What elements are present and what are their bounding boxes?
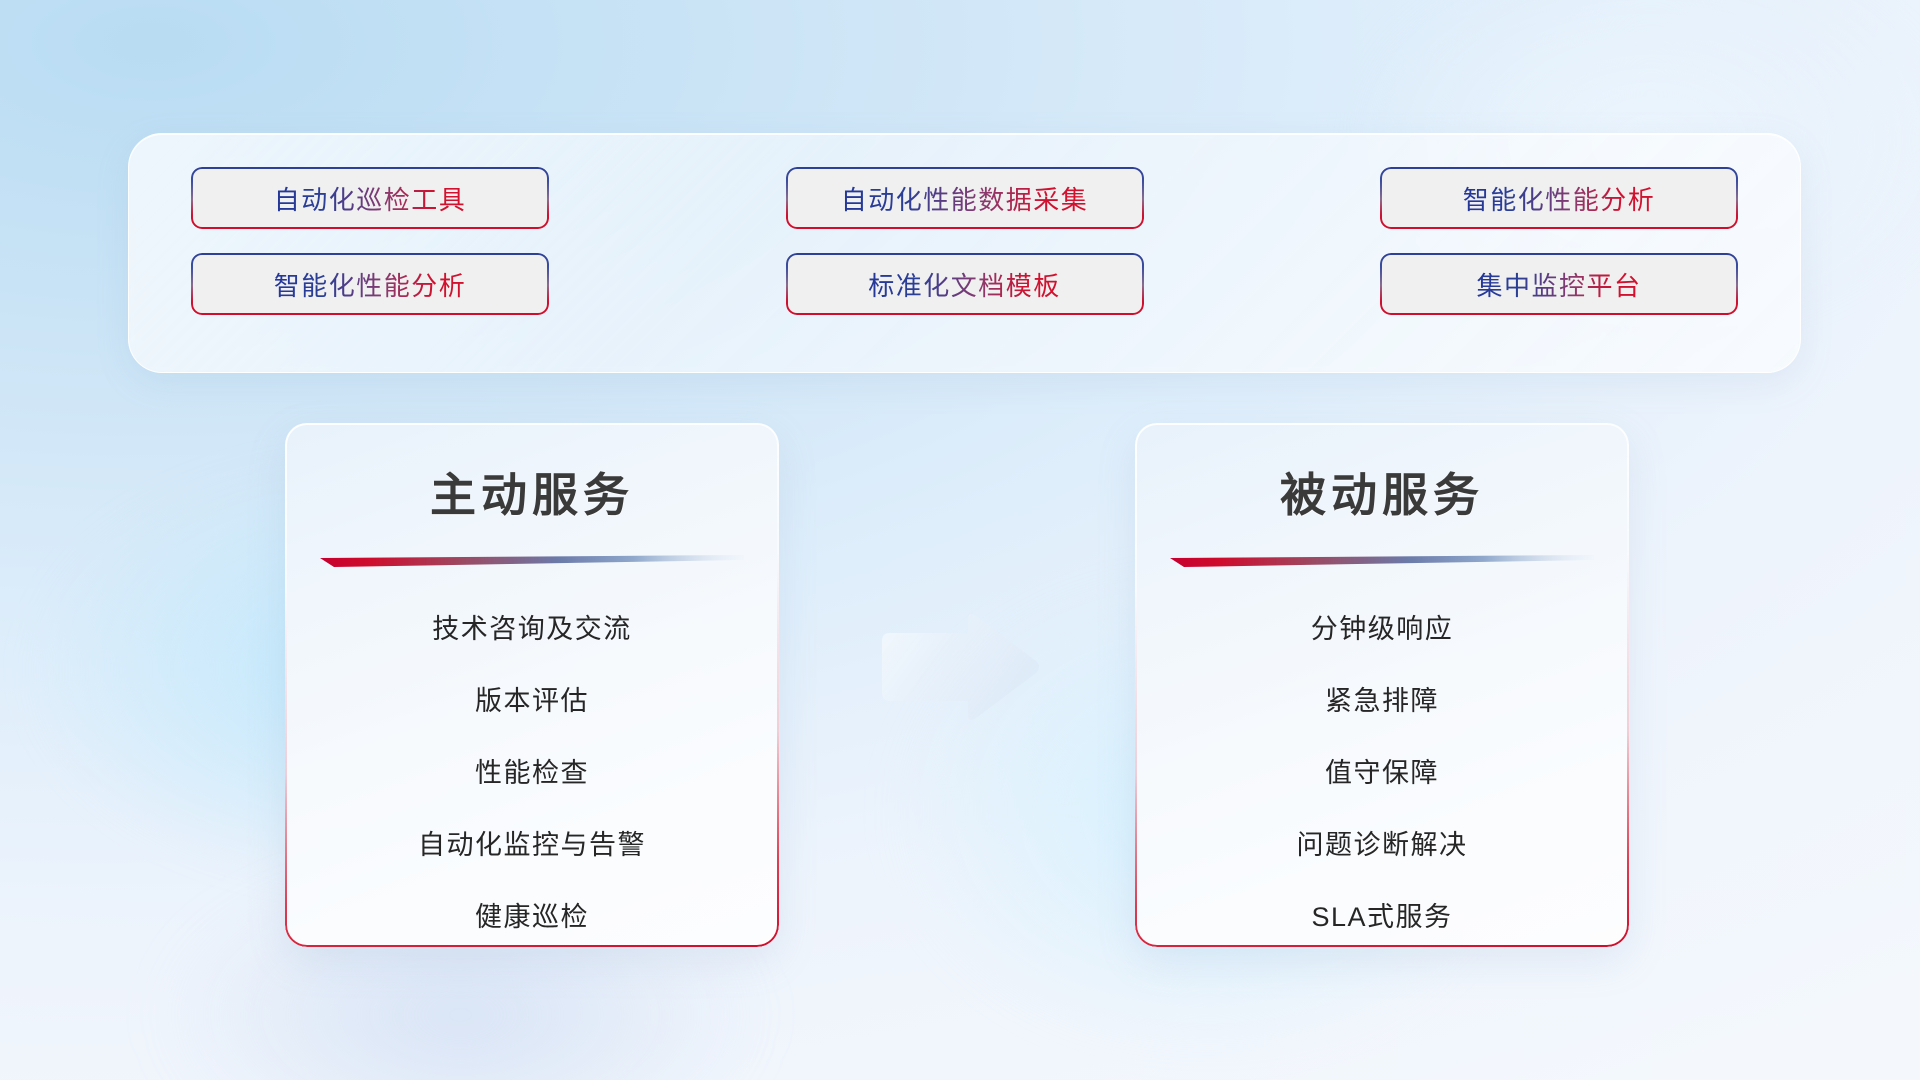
list-item[interactable]: SLA式服务 (1135, 881, 1629, 947)
list-item[interactable]: 性能检查 (285, 737, 779, 809)
list-item[interactable]: 值守保障 (1135, 737, 1629, 809)
service-card-active: 主动服务 技术咨询及交流 版本评估 性能检查 (285, 423, 779, 947)
service-cards: 主动服务 技术咨询及交流 版本评估 性能检查 (0, 0, 1920, 1080)
card-item-list: 技术咨询及交流 版本评估 性能检查 自动化监控与告警 健康巡检 (285, 593, 779, 947)
card-divider-icon (320, 555, 744, 569)
arrow-right-icon (872, 611, 1042, 723)
list-item[interactable]: 版本评估 (285, 665, 779, 737)
list-item[interactable]: 健康巡检 (285, 881, 779, 947)
card-title: 被动服务 (1135, 459, 1629, 525)
card-divider-icon (1170, 555, 1594, 569)
list-item[interactable]: 问题诊断解决 (1135, 809, 1629, 881)
list-item[interactable]: 紧急排障 (1135, 665, 1629, 737)
card-item-list: 分钟级响应 紧急排障 值守保障 问题诊断解决 SLA式服务 (1135, 593, 1629, 947)
card-title: 主动服务 (285, 459, 779, 525)
list-item[interactable]: 自动化监控与告警 (285, 809, 779, 881)
service-card-passive: 被动服务 分钟级响应 紧急排障 值守保障 (1135, 423, 1629, 947)
list-item[interactable]: 分钟级响应 (1135, 593, 1629, 665)
list-item[interactable]: 技术咨询及交流 (285, 593, 779, 665)
